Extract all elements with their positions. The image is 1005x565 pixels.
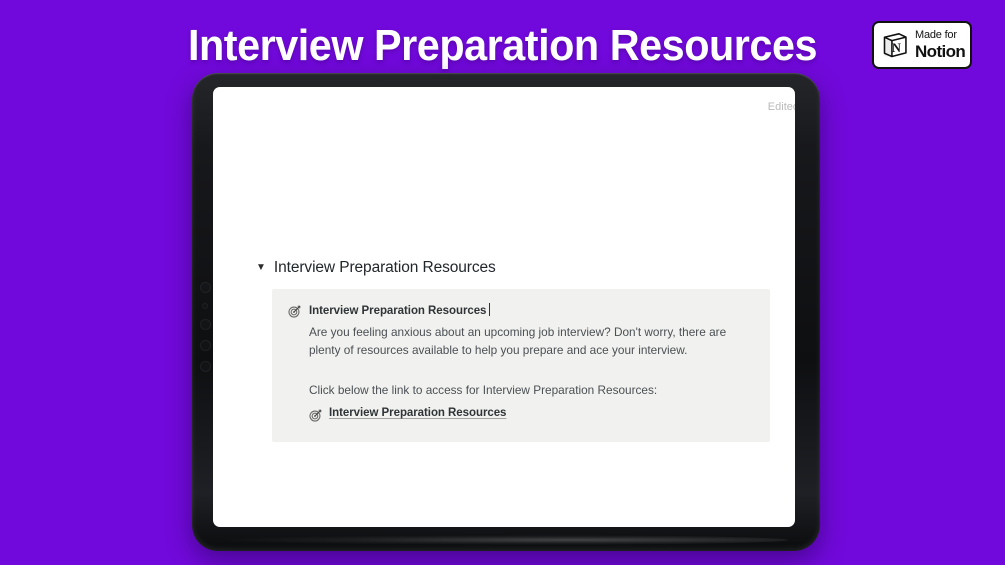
callout-title-row: Interview Preparation Resources: [288, 303, 754, 317]
notion-document: ▼ Interview Preparation Resources Interv…: [256, 259, 776, 442]
page-title: Interview Preparation Resources: [30, 18, 975, 74]
edited-status-label: Edited: [768, 101, 795, 113]
dart-target-icon: [309, 409, 322, 422]
badge-made-for-label: Made for: [915, 30, 965, 41]
callout-block: Interview Preparation Resources Are you …: [272, 289, 770, 442]
interview-preparation-resources-link[interactable]: Interview Preparation Resources: [329, 407, 506, 419]
chevron-down-icon[interactable]: ▼: [256, 263, 266, 273]
svg-text:N: N: [892, 41, 901, 55]
callout-title-label: Interview Preparation Resources: [309, 305, 486, 317]
notion-cube-icon: N: [881, 31, 909, 59]
callout-title-text: Interview Preparation Resources: [309, 303, 490, 317]
poster-canvas: Interview Preparation Resources N Made f…: [0, 0, 1005, 565]
made-for-notion-badge: N Made for Notion: [872, 21, 972, 69]
badge-notion-label: Notion: [915, 43, 965, 60]
tablet-bottom-glare: [222, 535, 788, 545]
callout-cta-text: Click below the link to access for Inter…: [309, 381, 754, 399]
text-cursor-caret: [489, 303, 490, 316]
badge-text-block: Made for Notion: [915, 30, 965, 60]
tablet-screen: Edited ▼ Interview Preparation Resources…: [213, 87, 795, 527]
toggle-heading-text: Interview Preparation Resources: [274, 259, 496, 277]
dart-target-icon: [288, 305, 301, 318]
callout-link-row[interactable]: Interview Preparation Resources: [309, 407, 754, 420]
callout-paragraph-text: Are you feeling anxious about an upcomin…: [309, 323, 739, 359]
toggle-block-header[interactable]: ▼ Interview Preparation Resources: [256, 259, 776, 277]
